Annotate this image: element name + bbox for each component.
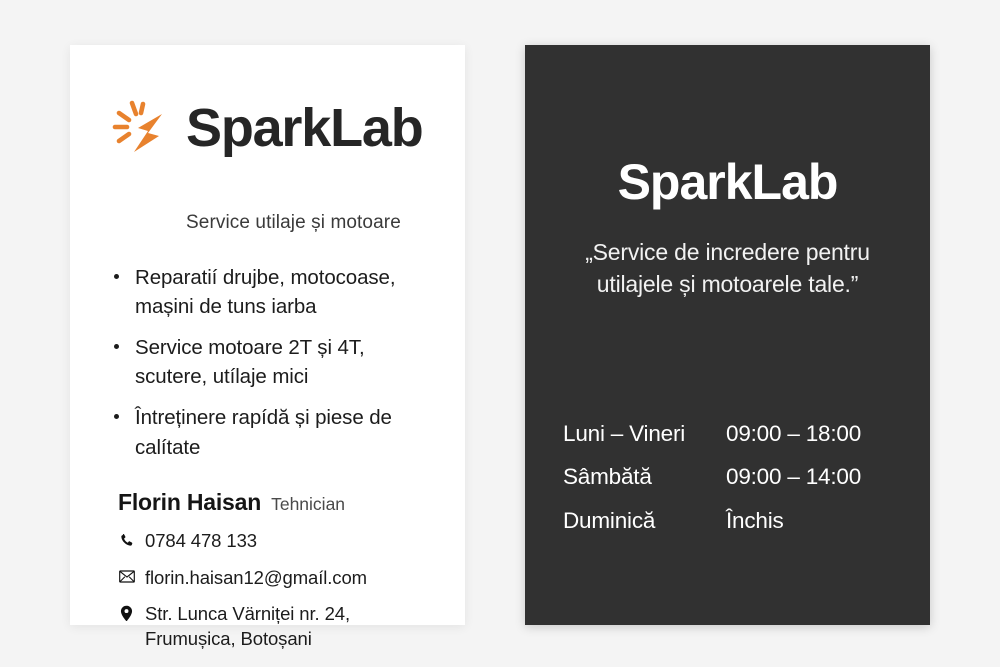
contact-line-text: Frumușica, Botoșani — [145, 627, 350, 652]
brand-subtitle: Service utilaje și motoare — [186, 212, 401, 234]
hours-value: 09:00 – 18:00 — [726, 415, 861, 453]
business-card-front: SparkLab Service utilaje și motoare Repa… — [70, 45, 465, 625]
brand-name-back: SparkLab — [525, 157, 930, 207]
business-card-back: SparkLab „Service de incredere pentru ut… — [525, 45, 930, 625]
person-name: Florin Haisan — [118, 489, 261, 516]
contact-phone[interactable]: 0784 478 133 — [118, 529, 458, 554]
contact-address-text: Str. Lunca Värniței nr. 24, Frumușica, B… — [145, 602, 350, 651]
brand-name-front: SparkLab — [186, 101, 423, 155]
hours-day: Duminică — [563, 502, 726, 540]
map-pin-icon — [118, 602, 135, 624]
brand-lockup: SparkLab — [110, 97, 423, 159]
person-block: Florin Haisan Tehnician — [118, 489, 345, 516]
table-row: Duminică Închis — [563, 502, 893, 540]
contact-line-text: Str. Lunca Värniței nr. 24, — [145, 602, 350, 627]
opening-hours-table: Luni – Vineri 09:00 – 18:00 Sâmbătă 09:0… — [563, 415, 893, 545]
tagline: „Service de incredere pentru utilajele ș… — [565, 237, 890, 300]
contact-phone-text: 0784 478 133 — [145, 529, 257, 554]
table-row: Sâmbătă 09:00 – 14:00 — [563, 458, 893, 496]
list-item: Reparatií drujbe, motocoase, mașini de t… — [110, 263, 440, 321]
services-list: Reparatií drujbe, motocoase, mașini de t… — [110, 263, 440, 474]
phone-icon — [118, 529, 135, 551]
contact-address[interactable]: Str. Lunca Värniței nr. 24, Frumușica, B… — [118, 602, 458, 651]
contact-line-text: florin.haisan12@gmaíl.com — [145, 566, 367, 591]
business-card-layout: SparkLab Service utilaje și motoare Repa… — [0, 0, 1000, 667]
contact-list: 0784 478 133 florin.haisan12@gmaíl.com — [118, 529, 458, 663]
hours-day: Luni – Vineri — [563, 415, 726, 453]
list-item: Service motoare 2T și 4T, scutere, utíla… — [110, 333, 440, 391]
list-item: Întreținere rapídă și piese de calítate — [110, 403, 440, 461]
envelope-icon — [118, 566, 135, 588]
table-row: Luni – Vineri 09:00 – 18:00 — [563, 415, 893, 453]
contact-email[interactable]: florin.haisan12@gmaíl.com — [118, 566, 458, 591]
hours-value: Închis — [726, 502, 784, 540]
hours-value: 09:00 – 14:00 — [726, 458, 861, 496]
person-role: Tehnician — [271, 494, 345, 515]
contact-email-text: florin.haisan12@gmaíl.com — [145, 566, 367, 591]
contact-line-text: 0784 478 133 — [145, 529, 257, 554]
hours-day: Sâmbătă — [563, 458, 726, 496]
spark-bolt-icon — [110, 97, 172, 159]
